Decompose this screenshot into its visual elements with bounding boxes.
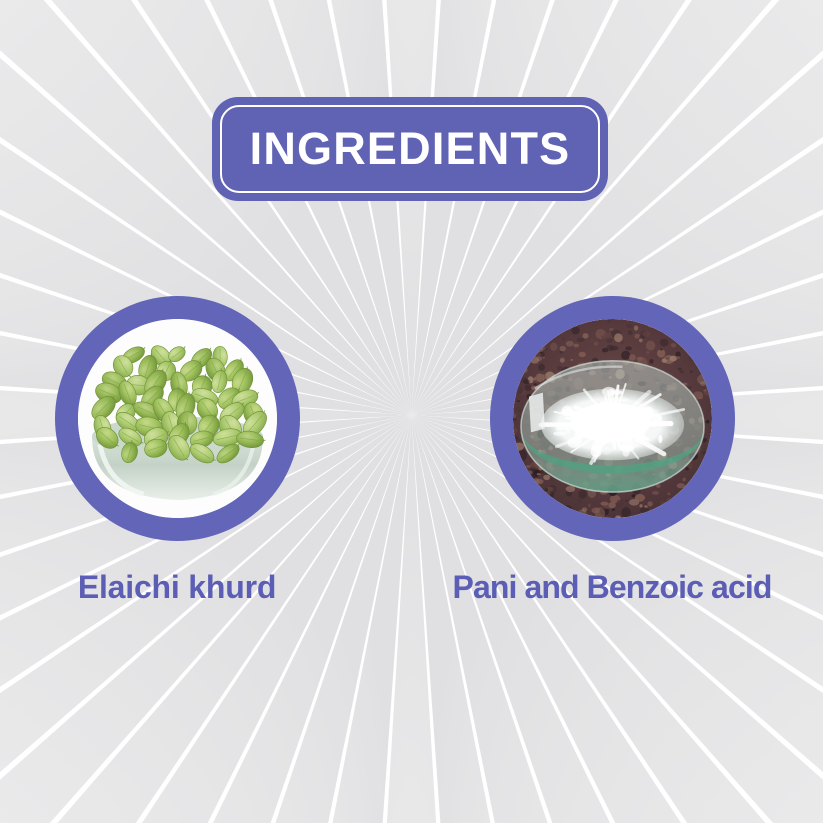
- ingredient-label: Elaichi khurd: [7, 569, 347, 606]
- ingredient-circle-frame: [55, 296, 300, 541]
- ingredients-infographic: INGREDIENTS: [0, 0, 823, 823]
- ingredient-circle-frame: [490, 296, 735, 541]
- ingredient-card-pani-and-benzoic-acid: Pani and Benzoic acid: [442, 296, 782, 606]
- green-cardamom-pods-in-glass-bowl-image: [78, 319, 277, 518]
- ingredient-card-elaichi-khurd: Elaichi khurd: [7, 296, 347, 606]
- ingredients-title-banner: INGREDIENTS: [212, 97, 608, 201]
- white-benzoic-acid-powder-in-petri-dish-image: [513, 319, 712, 518]
- ingredient-label: Pani and Benzoic acid: [442, 569, 782, 606]
- page-title: INGREDIENTS: [212, 97, 608, 201]
